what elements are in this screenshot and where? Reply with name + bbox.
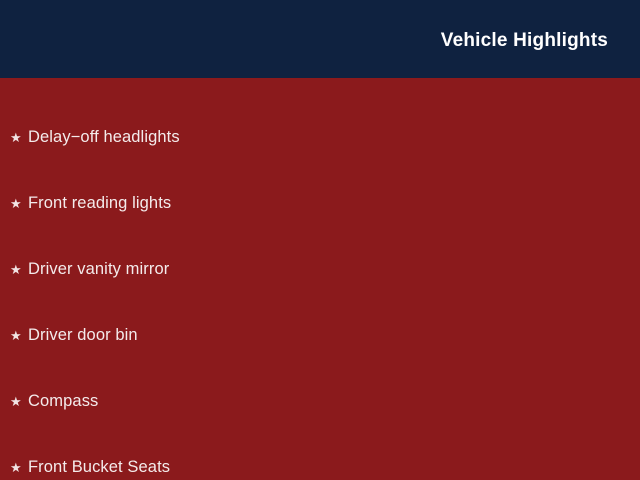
star-bullet-icon: ★: [10, 461, 28, 474]
list-item: ★ Driver vanity mirror: [0, 236, 640, 302]
slide-header: Vehicle Highlights: [0, 0, 640, 78]
list-item-label: Driver vanity mirror: [28, 261, 169, 278]
page-title: Vehicle Highlights: [441, 31, 608, 50]
list-item-label: Delay−off headlights: [28, 129, 180, 146]
slide-body: ★ Delay−off headlights ★ Front reading l…: [0, 78, 640, 480]
list-item-label: Compass: [28, 393, 98, 410]
list-item-label: Front Bucket Seats: [28, 459, 170, 476]
vehicle-highlights-slide: Vehicle Highlights ★ Delay−off headlight…: [0, 0, 640, 480]
list-item: ★ Delay−off headlights: [0, 104, 640, 170]
list-item: ★ Front Bucket Seats: [0, 434, 640, 480]
star-bullet-icon: ★: [10, 263, 28, 276]
star-bullet-icon: ★: [10, 131, 28, 144]
list-item: ★ Front reading lights: [0, 170, 640, 236]
star-bullet-icon: ★: [10, 395, 28, 408]
list-item: ★ Driver door bin: [0, 302, 640, 368]
star-bullet-icon: ★: [10, 329, 28, 342]
list-item-label: Front reading lights: [28, 195, 171, 212]
list-item: ★ Compass: [0, 368, 640, 434]
list-item-label: Driver door bin: [28, 327, 138, 344]
vehicle-highlights-list: ★ Delay−off headlights ★ Front reading l…: [0, 104, 640, 480]
star-bullet-icon: ★: [10, 197, 28, 210]
